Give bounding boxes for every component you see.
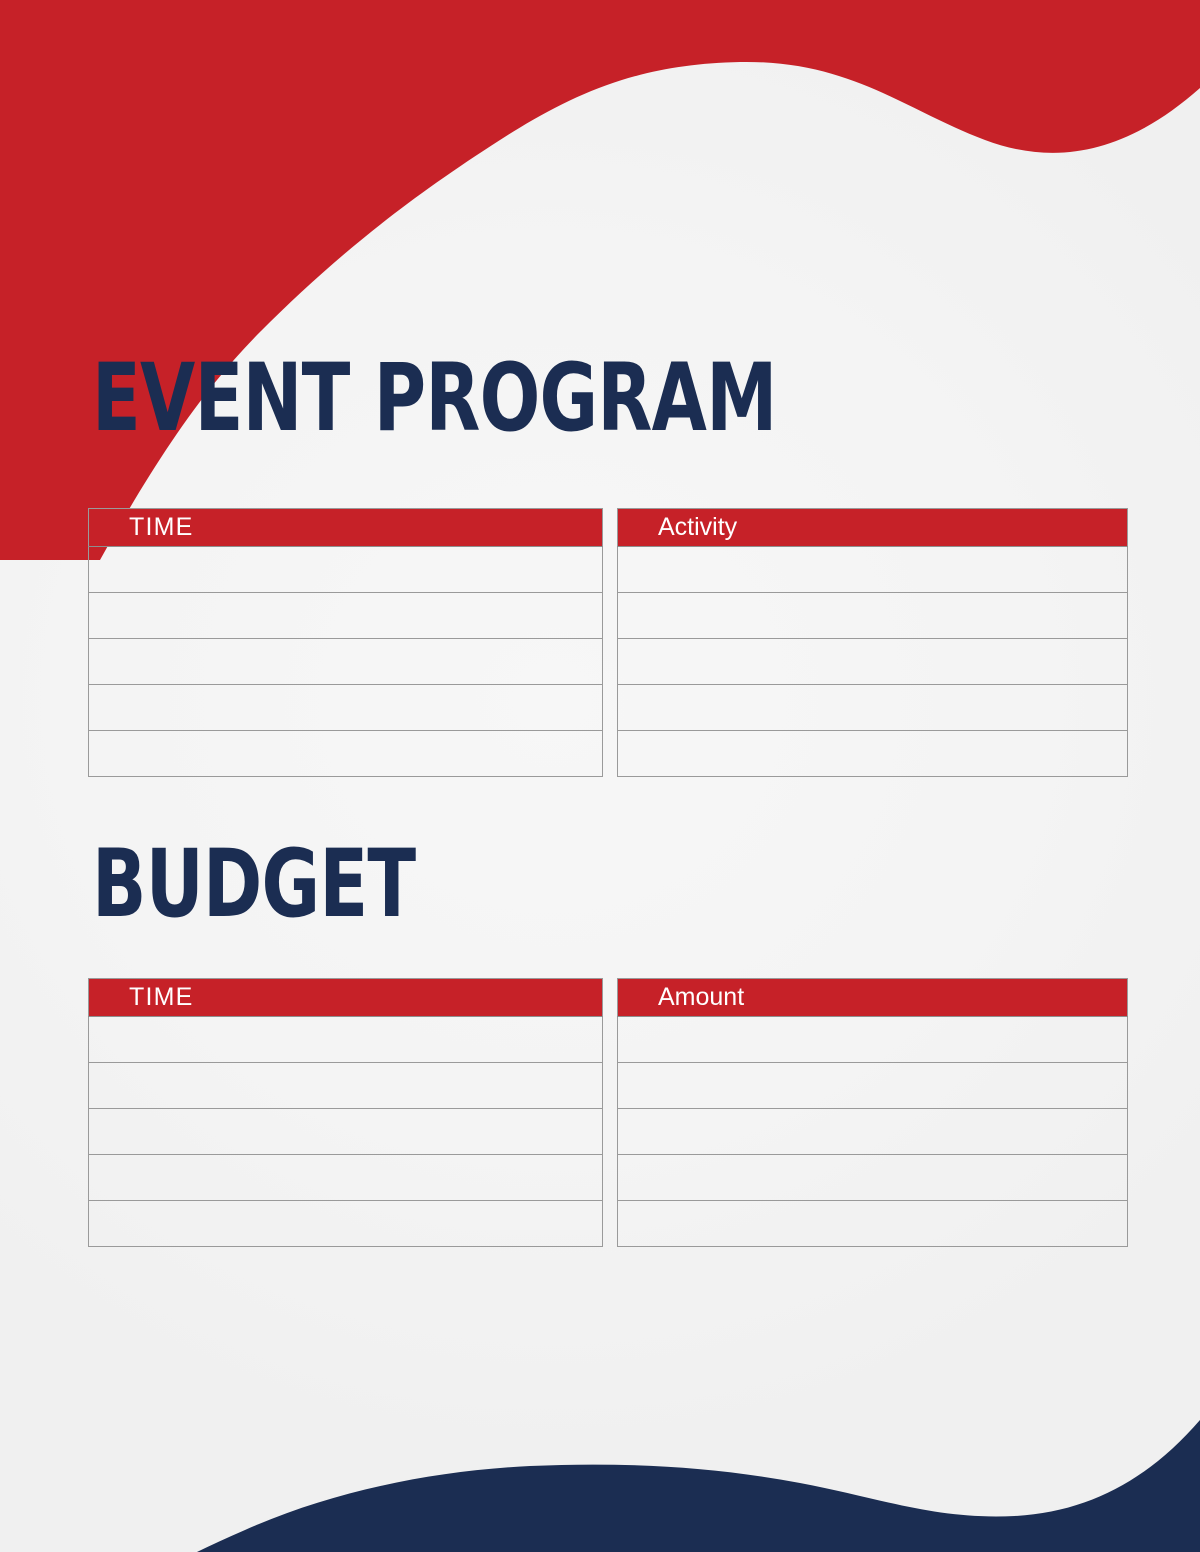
table-cell-time[interactable] bbox=[89, 639, 603, 685]
table-row[interactable] bbox=[618, 685, 1128, 731]
page-title-budget: BUDGET bbox=[92, 838, 415, 932]
table-row[interactable] bbox=[89, 1063, 603, 1109]
table-cell-amount[interactable] bbox=[618, 1063, 1128, 1109]
table-row[interactable] bbox=[618, 593, 1128, 639]
table-cell-time[interactable] bbox=[89, 1063, 603, 1109]
table-cell-activity[interactable] bbox=[618, 593, 1128, 639]
table-cell-activity[interactable] bbox=[618, 547, 1128, 593]
table-row[interactable] bbox=[89, 593, 603, 639]
table-row[interactable] bbox=[618, 1109, 1128, 1155]
table-row[interactable] bbox=[618, 1017, 1128, 1063]
table-cell-time[interactable] bbox=[89, 1155, 603, 1201]
table-row[interactable] bbox=[89, 685, 603, 731]
table-cell-amount[interactable] bbox=[618, 1155, 1128, 1201]
column-header-time: TIME bbox=[89, 509, 603, 547]
table-cell-time[interactable] bbox=[89, 685, 603, 731]
table-cell-activity[interactable] bbox=[618, 639, 1128, 685]
table-row[interactable] bbox=[618, 1063, 1128, 1109]
budget-time-table: TIME bbox=[88, 978, 603, 1247]
table-cell-activity[interactable] bbox=[618, 685, 1128, 731]
table-cell-activity[interactable] bbox=[618, 731, 1128, 777]
table-row[interactable] bbox=[618, 1201, 1128, 1247]
table-row[interactable] bbox=[89, 1201, 603, 1247]
page-title-event-program: EVENT PROGRAM bbox=[92, 352, 777, 446]
event-program-template-page: EVENT PROGRAM TIME Activity bbox=[0, 0, 1200, 1552]
red-wave-shape bbox=[0, 0, 1200, 560]
table-header-row: TIME bbox=[89, 509, 603, 547]
column-header-activity: Activity bbox=[618, 509, 1128, 547]
table-header-row: Amount bbox=[618, 979, 1128, 1017]
table-cell-time[interactable] bbox=[89, 547, 603, 593]
table-row[interactable] bbox=[618, 731, 1128, 777]
table-row[interactable] bbox=[618, 1155, 1128, 1201]
table-cell-amount[interactable] bbox=[618, 1201, 1128, 1247]
table-header-row: Activity bbox=[618, 509, 1128, 547]
table-cell-time[interactable] bbox=[89, 1017, 603, 1063]
table-row[interactable] bbox=[89, 1017, 603, 1063]
table-cell-time[interactable] bbox=[89, 1201, 603, 1247]
table-row[interactable] bbox=[618, 639, 1128, 685]
table-row[interactable] bbox=[89, 1109, 603, 1155]
table-cell-time[interactable] bbox=[89, 731, 603, 777]
event-program-time-table: TIME bbox=[88, 508, 603, 777]
table-row[interactable] bbox=[89, 731, 603, 777]
table-row[interactable] bbox=[89, 639, 603, 685]
column-header-amount: Amount bbox=[618, 979, 1128, 1017]
table-cell-time[interactable] bbox=[89, 593, 603, 639]
table-row[interactable] bbox=[89, 1155, 603, 1201]
event-program-activity-table: Activity bbox=[617, 508, 1128, 777]
table-cell-amount[interactable] bbox=[618, 1109, 1128, 1155]
column-header-time: TIME bbox=[89, 979, 603, 1017]
table-header-row: TIME bbox=[89, 979, 603, 1017]
budget-amount-table: Amount bbox=[617, 978, 1128, 1247]
table-row[interactable] bbox=[618, 547, 1128, 593]
table-cell-time[interactable] bbox=[89, 1109, 603, 1155]
table-row[interactable] bbox=[89, 547, 603, 593]
navy-wave-main bbox=[0, 1420, 1200, 1552]
table-cell-amount[interactable] bbox=[618, 1017, 1128, 1063]
